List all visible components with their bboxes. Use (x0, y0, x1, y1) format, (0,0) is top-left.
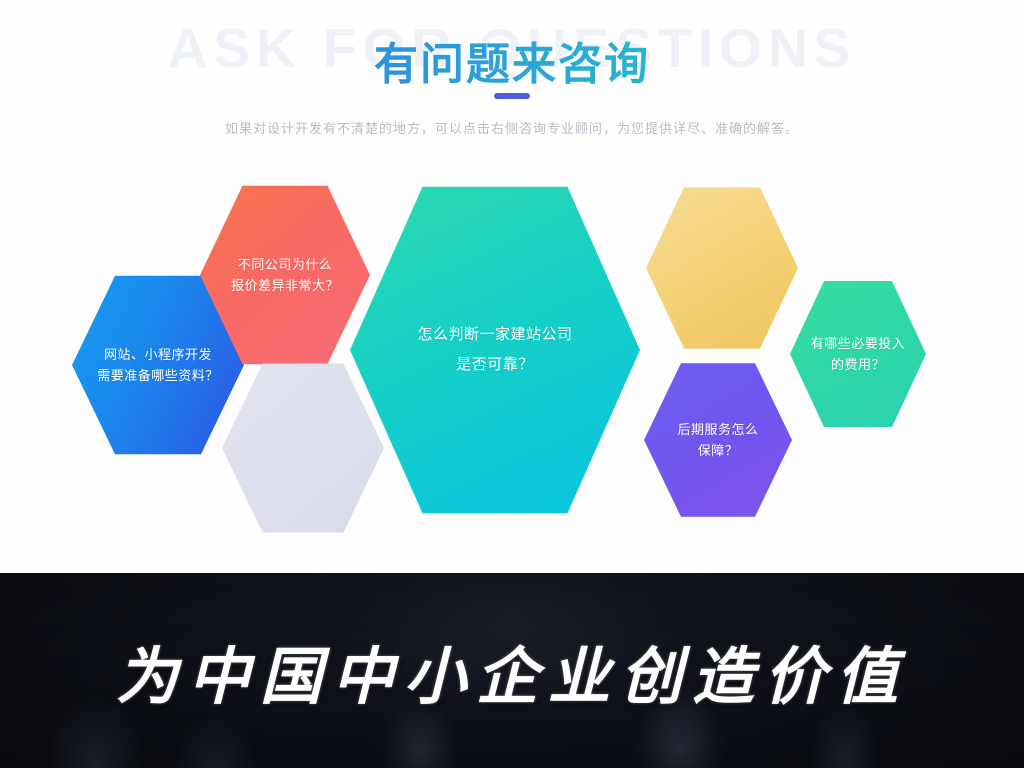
hexagon-necessary-costs[interactable]: 有哪些必要投入 的费用？ (790, 278, 926, 430)
hexagon-text-line1: 有哪些必要投入 (811, 333, 906, 354)
hexagon-decorative-gray (222, 360, 384, 536)
hexagon-text-line2: 的费用？ (831, 354, 885, 375)
hexagon-decorative-yellow (646, 184, 798, 352)
hexagon-cluster: 网站、小程序开发 需要准备哪些资料？ 不同公司为什么 报价差异非常大？ 怎么判断… (0, 160, 1024, 572)
title-divider (494, 93, 530, 99)
page-root: ASK FOR QUESTIONS 有问题来咨询 如果对设计开发有不清楚的地方，… (0, 0, 1024, 768)
hexagon-text-line2: 是否可靠？ (456, 350, 534, 380)
hexagon-text-line1: 怎么判断一家建站公司 (417, 320, 572, 350)
banner-slogan: 为中国中小企业创造价值 (0, 626, 1024, 716)
hexagon-text-line2: 需要准备哪些资料？ (97, 365, 219, 386)
page-title: 有问题来咨询 (0, 28, 1024, 92)
section-header: ASK FOR QUESTIONS 有问题来咨询 如果对设计开发有不清楚的地方，… (0, 0, 1024, 160)
hexagon-text-line2: 保障？ (698, 440, 739, 461)
hexagon-text-line1: 不同公司为什么 (238, 254, 333, 275)
bottom-banner: 为中国中小企业创造价值 (0, 573, 1024, 768)
hexagon-company-reliability[interactable]: 怎么判断一家建站公司 是否可靠？ (350, 180, 640, 520)
hexagon-text-line1: 网站、小程序开发 (104, 344, 212, 365)
hexagon-after-sales-service[interactable]: 后期服务怎么 保障？ (644, 360, 792, 520)
hexagon-text-line1: 后期服务怎么 (677, 419, 758, 440)
page-subtitle: 如果对设计开发有不清楚的地方，可以点击右侧咨询专业顾问，为您提供详尽、准确的解答… (0, 118, 1024, 137)
hexagon-text-line2: 报价差异非常大？ (231, 275, 339, 296)
